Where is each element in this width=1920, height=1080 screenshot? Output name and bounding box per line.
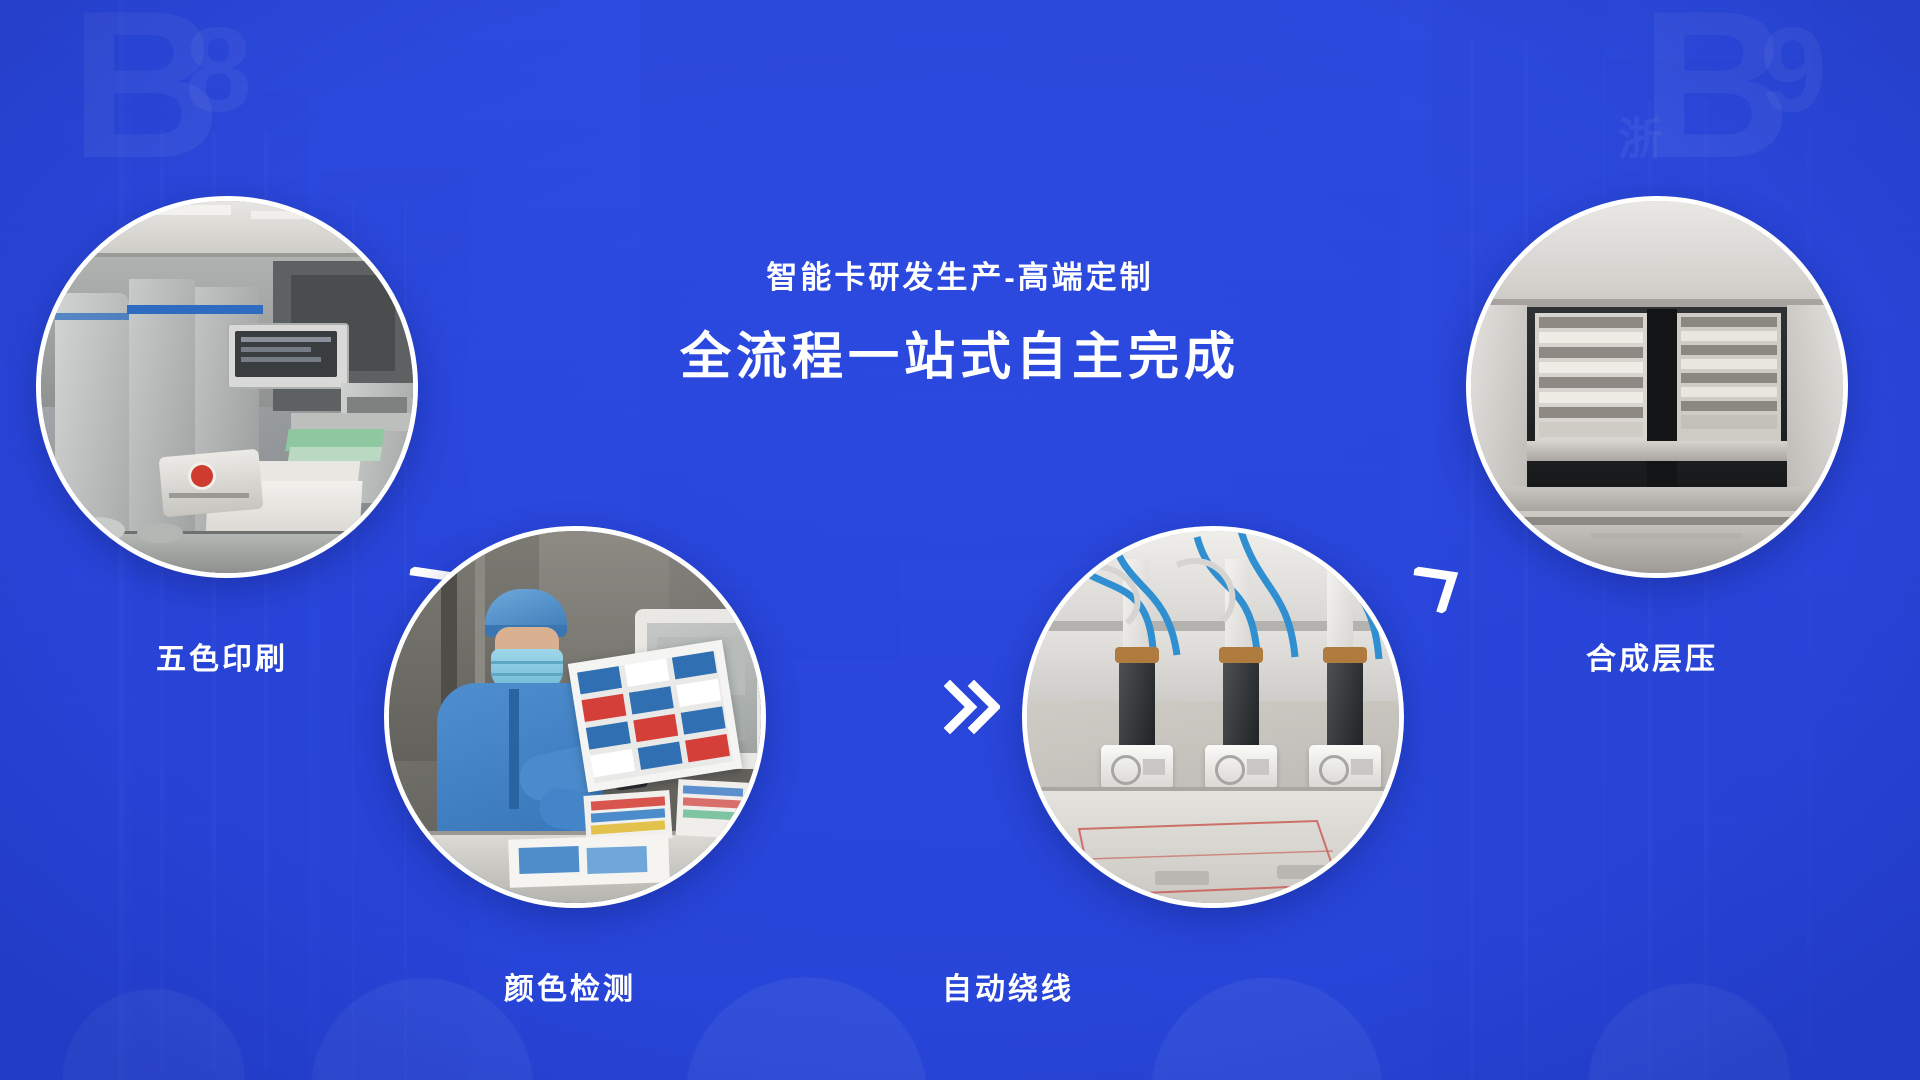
poster-canvas: B8B9浙 智能卡研发生产-高端定制 全流程一站式自主完成 <box>0 0 1920 1080</box>
coil-winding-image <box>1027 531 1399 903</box>
chevron-double-right-icon-2 <box>944 680 1000 734</box>
step-3-label: 自动绕线 <box>798 964 1218 1008</box>
step-1-label: 五色印刷 <box>12 634 432 678</box>
step-4-photo-circle[interactable] <box>1466 196 1848 578</box>
colour-inspection-image <box>389 531 761 903</box>
step-2-label: 颜色检测 <box>360 964 780 1008</box>
lamination-press-image <box>1471 201 1843 573</box>
step-1-photo-circle[interactable] <box>36 196 418 578</box>
step-4-label: 合成层压 <box>1442 634 1862 678</box>
step-3-photo-circle[interactable] <box>1022 526 1404 908</box>
step-2-photo-circle[interactable] <box>384 526 766 908</box>
printing-press-image <box>41 201 413 573</box>
